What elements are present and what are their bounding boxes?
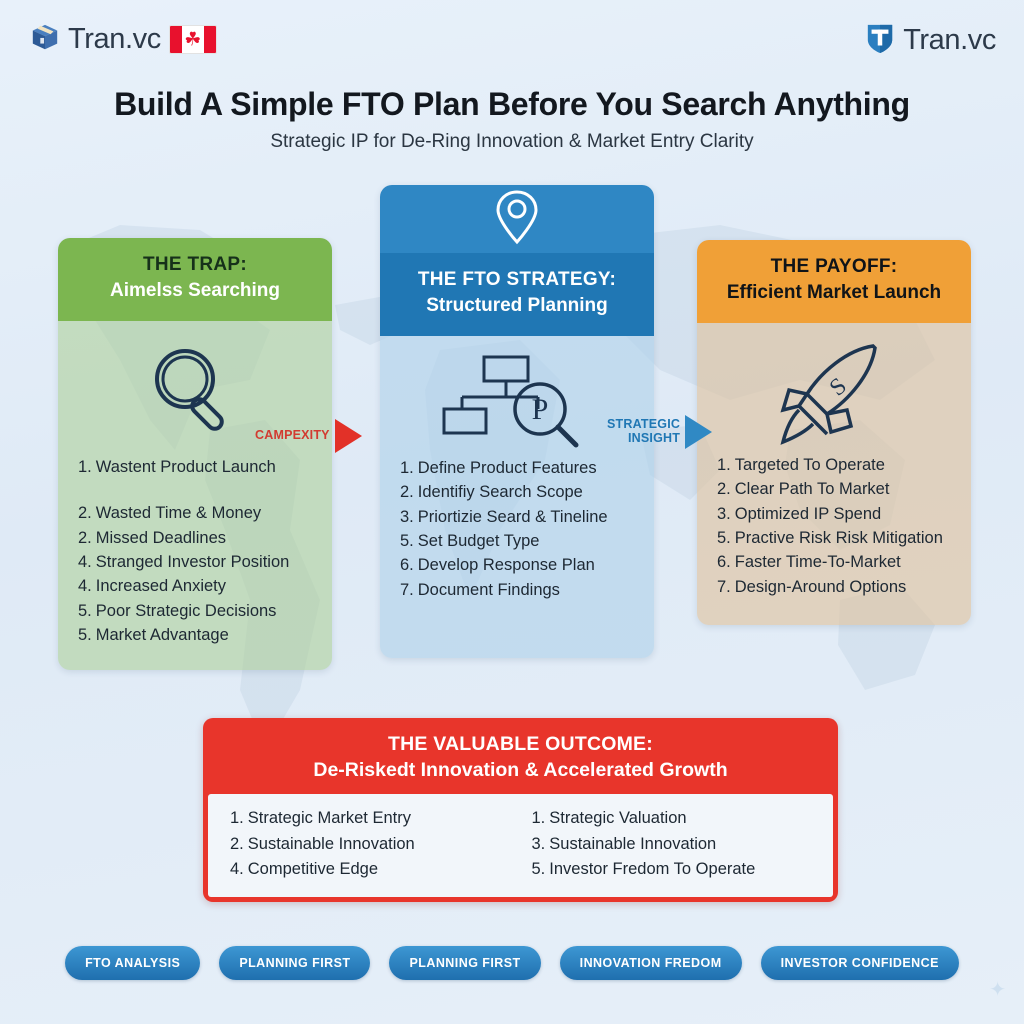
card-payoff[interactable]: THE PAYOFF: Efficient Market Launch S 1.… [697,240,971,625]
outcome-headline: De-Riskedt Innovation & Accelerated Grow… [208,759,833,782]
list-item-number: 3. [532,835,546,853]
connector-complexity-label: CAMPEXITY [255,429,330,443]
list-item: 5.Practive Risk Risk Mitigation [717,526,959,550]
list-item: 1.Wastent Product Launch [78,455,320,479]
sparkle-icon: ✦ [989,977,1006,1002]
list-item: 4.Competitive Edge [230,857,532,883]
list-item: 5.Investor Fredom To Operate [532,857,834,883]
pill-fto-analysis[interactable]: FTO ANALYSIS [65,946,200,980]
list-item-number: 6. [717,553,731,571]
card-trap-header: THE TRAP: Aimelss Searching [58,238,332,321]
list-item: 4.Stranged Investor Position [78,550,320,574]
card-trap-eyebrow: THE TRAP: [72,254,318,276]
list-item: 3.Optimized IP Spend [717,502,959,526]
outcome-header: THE VALUABLE OUTCOME: De-Riskedt Innovat… [208,723,833,794]
list-item-number: 7. [400,581,414,599]
list-item-label: Define Product Features [418,459,597,477]
card-strategy-eyebrow: THE FTO STRATEGY: [394,269,640,291]
list-item-label: Optimized IP Spend [735,505,881,523]
card-strategy-body: P 1.Define Product Features 2.Identifiy … [380,336,654,658]
list-item: 5.Set Budget Type [400,529,642,553]
card-trap-body: 1.Wastent Product Launch 2.Wasted Time &… [58,321,332,670]
card-strategy-list: 1.Define Product Features 2.Identifiy Se… [380,456,654,602]
list-item: 4.Increased Anxiety [78,574,320,598]
card-trap-list: 1.Wastent Product Launch 2.Wasted Time &… [58,451,332,648]
logo-right[interactable]: Tran.vc [865,22,996,59]
list-item-label: Practive Risk Risk Mitigation [735,529,943,547]
card-payoff-header: THE PAYOFF: Efficient Market Launch [697,240,971,323]
outcome-inner-panel: 1.Strategic Market Entry 2.Sustainable I… [208,794,833,897]
list-item-label: Develop Response Plan [418,556,595,574]
list-item-label: Increased Anxiety [96,577,226,595]
list-item: 2.Clear Path To Market [717,477,959,501]
card-payoff-list: 1.Targeted To Operate 2.Clear Path To Ma… [697,453,971,599]
list-item-label: Priortizie Seard & Tineline [418,508,608,526]
list-item: 5.Market Advantage [78,623,320,647]
list-item-number: 5. [532,860,546,878]
card-strategy-pin-zone [380,185,654,253]
list-item-number: 4. [78,577,92,595]
list-item-number: 1. [717,456,731,474]
list-item-number: 5. [717,529,731,547]
list-item-label: Identifiy Search Scope [418,483,583,501]
list-item: 1.Strategic Valuation [532,806,834,832]
list-item-label: Targeted To Operate [735,456,885,474]
logo-left-text: Tran.vc [68,23,161,56]
list-item-number: 1. [532,809,546,827]
list-item-label: Wastent Product Launch [96,458,276,476]
outcome-right-column: 1.Strategic Valuation 3.Sustainable Inno… [532,806,834,883]
connector-insight-line1: STRATEGIC [607,417,680,431]
maple-leaf-glyph: ☘ [184,30,201,49]
list-item-number: 4. [230,860,244,878]
map-pin-icon [494,188,540,251]
list-item: 5.Poor Strategic Decisions [78,599,320,623]
list-item-number: 4. [78,553,92,571]
list-item-number: 2. [78,504,92,522]
list-item: 2.Identifiy Search Scope [400,480,642,504]
list-item-number: 2. [78,529,92,547]
list-item: 3.Sustainable Innovation [532,832,834,858]
connector-insight-label: STRATEGIC INSIGHT [607,418,680,446]
cube-icon [30,22,60,57]
card-payoff-eyebrow: THE PAYOFF: [711,256,957,278]
list-item: 1.Define Product Features [400,456,642,480]
list-item-number: 1. [400,459,414,477]
list-item-label: Strategic Valuation [549,809,686,827]
list-item-label: Missed Deadlines [96,529,226,547]
list-item: 6.Faster Time-To-Market [717,550,959,574]
svg-text:P: P [532,393,549,426]
page-title: Build A Simple FTO Plan Before You Searc… [0,86,1024,123]
pill-planning-first-1[interactable]: PLANNING FIRST [219,946,370,980]
page-subtitle: Strategic IP for De-Ring Innovation & Ma… [0,131,1024,153]
list-item: 7.Document Findings [400,578,642,602]
list-item-number: 2. [230,835,244,853]
list-item-number: 1. [78,458,92,476]
list-item-label: Sustainable Innovation [248,835,415,853]
list-item: 1.Strategic Market Entry [230,806,532,832]
list-item-label: Design-Around Options [735,578,907,596]
shield-t-icon [865,22,895,59]
card-strategy-header: THE FTO STRATEGY: Structured Planning [380,253,654,336]
title-block: Build A Simple FTO Plan Before You Searc… [0,86,1024,153]
rocket-icon: S [697,333,971,453]
list-item-label: Set Budget Type [418,532,540,550]
card-trap-headline: Aimelss Searching [72,279,318,303]
list-item-label: Clear Path To Market [735,480,890,498]
list-item-number: 5. [78,602,92,620]
logo-left[interactable]: Tran.vc ☘ [30,22,217,57]
list-item: 6.Develop Response Plan [400,553,642,577]
logo-right-text: Tran.vc [903,24,996,57]
outcome-banner: THE VALUABLE OUTCOME: De-Riskedt Innovat… [203,718,838,902]
right-triangle-arrow-icon [335,419,362,453]
outcome-eyebrow: THE VALUABLE OUTCOME: [208,733,833,756]
list-item-label: Faster Time-To-Market [735,553,901,571]
list-item-label: Sustainable Innovation [549,835,716,853]
pill-investor-confidence[interactable]: INVESTOR CONFIDENCE [761,946,959,980]
list-item: 2.Missed Deadlines [78,526,320,550]
pill-innovation-fredom[interactable]: INNOVATION FREDOM [560,946,742,980]
list-item-number: 7. [717,578,731,596]
connector-complexity: CAMPEXITY [255,419,362,453]
pill-planning-first-2[interactable]: PLANNING FIRST [389,946,540,980]
list-item-label: Competitive Edge [248,860,378,878]
list-item-label: Wasted Time & Money [96,504,261,522]
list-item-label: Stranged Investor Position [96,553,290,571]
card-strategy-headline: Structured Planning [394,294,640,318]
list-item: 2.Wasted Time & Money [78,501,320,525]
list-item-number: 3. [400,508,414,526]
list-item-number: 5. [78,626,92,644]
list-item-label: Market Advantage [96,626,229,644]
list-item-label: Poor Strategic Decisions [96,602,277,620]
connector-insight: STRATEGIC INSIGHT [607,415,712,449]
canada-flag-icon: ☘ [169,25,217,54]
list-item-number: 2. [717,480,731,498]
outcome-left-column: 1.Strategic Market Entry 2.Sustainable I… [230,806,532,883]
list-item-label: Strategic Market Entry [248,809,411,827]
list-item-label: Investor Fredom To Operate [549,860,755,878]
card-trap[interactable]: THE TRAP: Aimelss Searching 1.Wastent Pr… [58,238,332,670]
list-item: 7.Design-Around Options [717,575,959,599]
list-item-number: 1. [230,809,244,827]
card-payoff-headline: Efficient Market Launch [711,281,957,305]
card-payoff-body: S 1.Targeted To Operate 2.Clear Path To … [697,323,971,625]
list-item: 1.Targeted To Operate [717,453,959,477]
list-item: 2.Sustainable Innovation [230,832,532,858]
list-item: 3.Priortizie Seard & Tineline [400,505,642,529]
list-item-number: 5. [400,532,414,550]
list-item-number: 2. [400,483,414,501]
right-triangle-arrow-icon [685,415,712,449]
list-item-number: 3. [717,505,731,523]
tag-pill-row: FTO ANALYSIS PLANNING FIRST PLANNING FIR… [0,946,1024,980]
connector-insight-line2: INSIGHT [628,431,680,445]
list-item-number: 6. [400,556,414,574]
list-item-label: Document Findings [418,581,560,599]
